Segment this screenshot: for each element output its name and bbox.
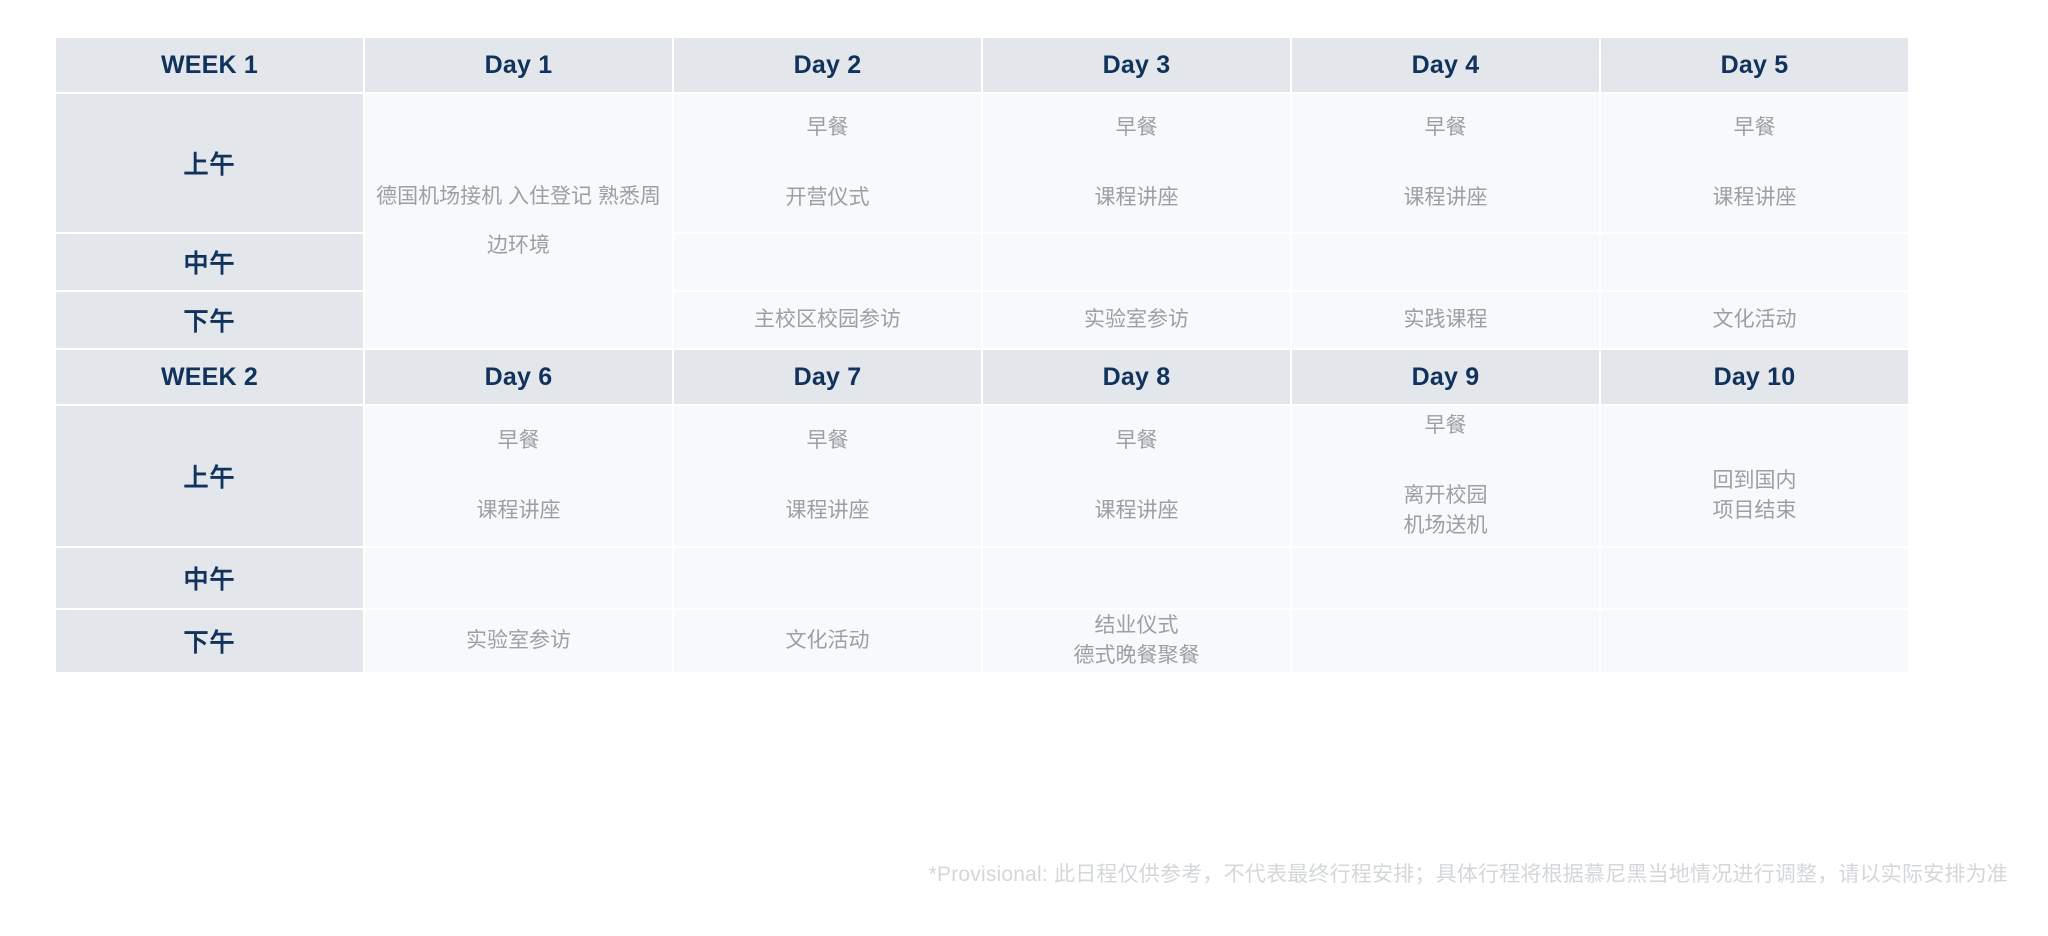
itinerary-table: WEEK 1 Day 1 Day 2 Day 3 Day 4 Day 5 上午 … xyxy=(54,36,1910,674)
week2-day-8-afternoon-1: 结业仪式 xyxy=(989,611,1284,641)
week2-day-8-morning-1: 早餐 xyxy=(989,426,1284,456)
week1-day-2-noon-cell xyxy=(674,234,981,290)
week2-day-9-header: Day 9 xyxy=(1292,350,1599,404)
week2-afternoon-label: 下午 xyxy=(56,610,363,672)
week1-day-4-morning-1: 早餐 xyxy=(1298,113,1593,143)
week1-morning-label: 上午 xyxy=(56,94,363,232)
week1-day-5-morning-cell: 早餐 课程讲座 xyxy=(1601,94,1908,232)
week1-day-3-morning-2: 课程讲座 xyxy=(989,183,1284,213)
week1-day-3-morning-cell: 早餐 课程讲座 xyxy=(983,94,1290,232)
week2-day-8-afternoon-2: 德式晚餐聚餐 xyxy=(989,641,1284,671)
week2-day-6-afternoon-cell: 实验室参访 xyxy=(365,610,672,672)
week2-noon-label: 中午 xyxy=(56,548,363,608)
week2-day-9-morning-cell: 早餐 离开校园 机场送机 xyxy=(1292,406,1599,546)
week1-header-row: WEEK 1 Day 1 Day 2 Day 3 Day 4 Day 5 xyxy=(56,38,1908,92)
week2-day-8-morning-2: 课程讲座 xyxy=(989,496,1284,526)
week2-day-10-morning-cell: 回到国内 项目结束 xyxy=(1601,406,1908,546)
week2-label: WEEK 2 xyxy=(56,350,363,404)
week1-day-2-morning-1: 早餐 xyxy=(680,113,975,143)
week2-day-10-morning-3: 项目结束 xyxy=(1607,496,1902,526)
week2-day-10-header: Day 10 xyxy=(1601,350,1908,404)
week1-day-5-noon-cell xyxy=(1601,234,1908,290)
week1-day-2-morning-2: 开营仪式 xyxy=(680,183,975,213)
week1-day-3-noon-cell xyxy=(983,234,1290,290)
week2-day-7-morning-cell: 早餐 课程讲座 xyxy=(674,406,981,546)
week1-day-5-morning-2: 课程讲座 xyxy=(1607,183,1902,213)
week2-day-6-header: Day 6 xyxy=(365,350,672,404)
week2-day-6-morning-cell: 早餐 课程讲座 xyxy=(365,406,672,546)
week2-day-9-morning-3: 机场送机 xyxy=(1298,511,1593,541)
week1-day-2-header: Day 2 xyxy=(674,38,981,92)
week1-afternoon-label: 下午 xyxy=(56,292,363,348)
week1-day-5-header: Day 5 xyxy=(1601,38,1908,92)
week1-day-3-header: Day 3 xyxy=(983,38,1290,92)
week2-morning-row: 上午 早餐 课程讲座 早餐 课程讲座 早餐 课程讲座 早餐 xyxy=(56,406,1908,546)
week2-day-7-morning-1: 早餐 xyxy=(680,426,975,456)
week2-day-7-afternoon-cell: 文化活动 xyxy=(674,610,981,672)
week1-noon-row: 中午 xyxy=(56,234,1908,290)
week2-day-6-morning-2: 课程讲座 xyxy=(371,496,666,526)
week2-day-8-noon-cell xyxy=(983,548,1290,608)
week2-noon-row: 中午 xyxy=(56,548,1908,608)
week1-day-4-afternoon-cell: 实践课程 xyxy=(1292,292,1599,348)
week2-day-7-noon-cell xyxy=(674,548,981,608)
week2-morning-label: 上午 xyxy=(56,406,363,546)
week1-noon-label: 中午 xyxy=(56,234,363,290)
week1-afternoon-row: 下午 主校区校园参访 实验室参访 实践课程 文化活动 xyxy=(56,292,1908,348)
schedule-table-container: WEEK 1 Day 1 Day 2 Day 3 Day 4 Day 5 上午 … xyxy=(54,36,1910,674)
week2-day-10-morning-2: 回到国内 xyxy=(1607,466,1902,496)
week2-day-6-noon-cell xyxy=(365,548,672,608)
provisional-footnote: *Provisional: 此日程仅供参考，不代表最终行程安排；具体行程将根据慕… xyxy=(0,858,2008,888)
week1-day-4-header: Day 4 xyxy=(1292,38,1599,92)
schedule-page: WEEK 1 Day 1 Day 2 Day 3 Day 4 Day 5 上午 … xyxy=(0,0,2048,936)
week2-day-9-morning-2: 离开校园 xyxy=(1298,481,1593,511)
week1-day-5-afternoon-cell: 文化活动 xyxy=(1601,292,1908,348)
week2-day-8-morning-cell: 早餐 课程讲座 xyxy=(983,406,1290,546)
week2-day-9-noon-cell xyxy=(1292,548,1599,608)
week2-day-9-afternoon-cell xyxy=(1292,610,1599,672)
week1-day-1-activity-1: 德国机场接机 xyxy=(376,185,502,208)
week1-day-3-morning-1: 早餐 xyxy=(989,113,1284,143)
week2-day-10-afternoon-cell xyxy=(1601,610,1908,672)
week1-day-1-header: Day 1 xyxy=(365,38,672,92)
week2-afternoon-row: 下午 实验室参访 文化活动 结业仪式 德式晚餐聚餐 xyxy=(56,610,1908,672)
week2-day-8-header: Day 8 xyxy=(983,350,1290,404)
week2-day-8-afternoon-cell: 结业仪式 德式晚餐聚餐 xyxy=(983,610,1290,672)
week2-header-row: WEEK 2 Day 6 Day 7 Day 8 Day 9 Day 10 xyxy=(56,350,1908,404)
week1-day-1-activity-2: 入住登记 xyxy=(508,185,592,208)
week1-day-4-noon-cell xyxy=(1292,234,1599,290)
week2-day-7-morning-2: 课程讲座 xyxy=(680,496,975,526)
week1-day-3-afternoon-cell: 实验室参访 xyxy=(983,292,1290,348)
week1-day-1-merged-cell: 德国机场接机 入住登记 熟悉周边环境 xyxy=(365,94,672,348)
week1-day-2-morning-cell: 早餐 开营仪式 xyxy=(674,94,981,232)
week2-day-10-noon-cell xyxy=(1601,548,1908,608)
week1-day-2-afternoon-cell: 主校区校园参访 xyxy=(674,292,981,348)
week1-label: WEEK 1 xyxy=(56,38,363,92)
week1-day-5-morning-1: 早餐 xyxy=(1607,113,1902,143)
week2-day-7-header: Day 7 xyxy=(674,350,981,404)
week2-day-9-morning-1: 早餐 xyxy=(1298,411,1593,441)
week1-morning-row: 上午 德国机场接机 入住登记 熟悉周边环境 早餐 开营仪式 早餐 课程讲座 xyxy=(56,94,1908,232)
week1-day-4-morning-2: 课程讲座 xyxy=(1298,183,1593,213)
week1-day-4-morning-cell: 早餐 课程讲座 xyxy=(1292,94,1599,232)
week2-day-6-morning-1: 早餐 xyxy=(371,426,666,456)
